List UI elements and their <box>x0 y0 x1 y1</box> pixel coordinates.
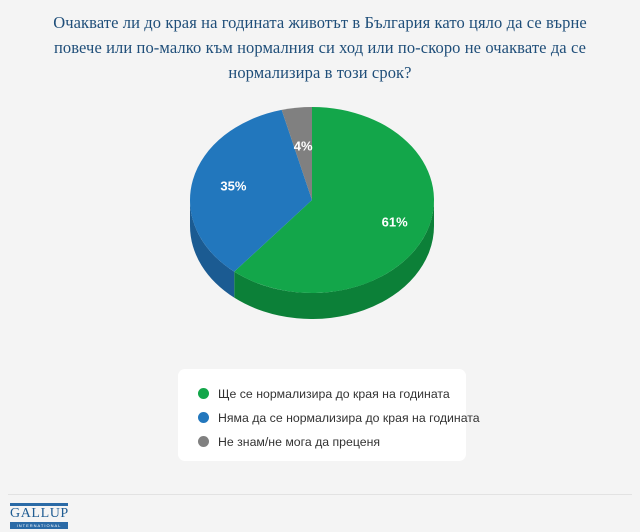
page-title-line-2: повече или по-малко към нормалния си ход… <box>8 35 632 60</box>
legend-label-1: Няма да се нормализира до края на година… <box>218 411 480 425</box>
pie-chart: 61%35%4% <box>188 104 448 319</box>
legend-color-swatch-icon-0 <box>198 388 209 399</box>
pie-slice-label-1: 35% <box>220 179 246 194</box>
legend-item-2[interactable]: Не знам/не мога да преценя <box>198 430 466 453</box>
pie-slice-label-2: 4% <box>294 138 313 153</box>
footer-divider <box>8 494 632 495</box>
legend-item-1[interactable]: Няма да се нормализира до края на година… <box>198 406 466 429</box>
page-title: Очаквате ли до края на годината животът … <box>0 10 640 85</box>
legend-label-2: Не знам/не мога да преценя <box>218 435 380 449</box>
pie-chart-svg: 61%35%4% <box>188 104 448 319</box>
logo-subtitle: INTERNATIONAL <box>10 522 68 529</box>
legend-color-swatch-icon-2 <box>198 436 209 447</box>
logo-wordmark: GALLUP <box>10 507 68 521</box>
legend-color-swatch-icon-1 <box>198 412 209 423</box>
gallup-logo: GALLUP INTERNATIONAL <box>10 503 68 529</box>
legend-item-0[interactable]: Ще се нормализира до края на годината <box>198 382 466 405</box>
pie-slice-label-0: 61% <box>382 215 408 230</box>
chart-legend: Ще се нормализира до края на годината Ня… <box>178 369 466 461</box>
legend-label-0: Ще се нормализира до края на годината <box>218 387 450 401</box>
page-title-line-3: нормализира в този срок? <box>8 60 632 85</box>
page-title-line-1: Очаквате ли до края на годината животът … <box>8 10 632 35</box>
